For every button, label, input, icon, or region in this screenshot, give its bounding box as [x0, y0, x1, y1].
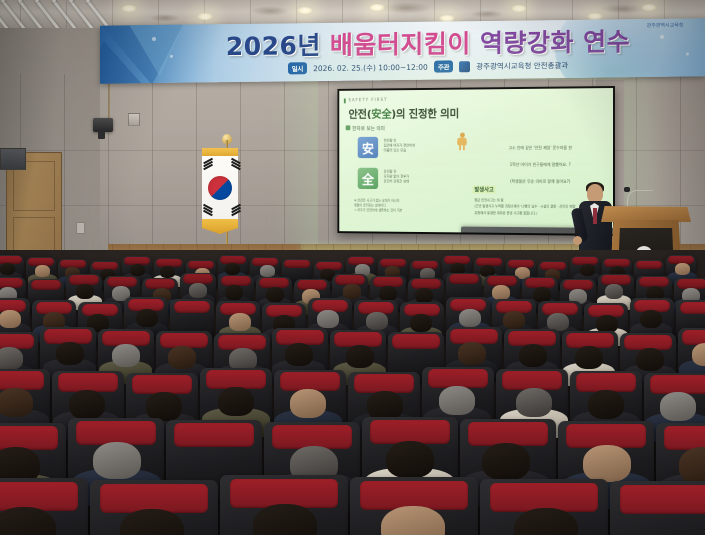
- attendee-head: [692, 343, 705, 366]
- podium-top: [601, 206, 691, 222]
- attendee-head: [516, 388, 552, 417]
- gooseneck-microphone-icon: [627, 190, 653, 208]
- attendee-head: [439, 386, 475, 415]
- attendee-head: [56, 342, 84, 365]
- attendee-head: [580, 264, 595, 276]
- flag-top-band: [202, 148, 238, 156]
- attendee-head: [519, 344, 547, 367]
- ceiling-downlight: [296, 6, 314, 15]
- attendee-head: [366, 312, 388, 330]
- attendee-head: [410, 314, 432, 332]
- hanja-an-description: 편안할 안 집안에 여자가 편안하게 머물러 있는 모습: [384, 139, 442, 154]
- attendee-head: [285, 343, 313, 366]
- attendee-head: [160, 266, 175, 278]
- audience-area: [0, 250, 705, 535]
- attendee-head: [588, 390, 624, 419]
- slide-quote-line1: 고소 안에 같은 '안전 제일' 문수마을 한: [478, 144, 603, 153]
- banner-host-value: 광주광역시교육청 안전총괄과: [476, 59, 568, 71]
- attendee-head: [533, 287, 551, 302]
- hanja-jeon-description: 온전할 전 모자람 없이 전부가 온전히 갖춰진 상태: [384, 170, 442, 185]
- attendee-head: [482, 443, 530, 480]
- attendee-head: [136, 309, 158, 327]
- slide-title-suffix: )의 진정한 의미: [391, 107, 459, 120]
- banner-shape: [100, 41, 150, 84]
- attendee-head: [168, 346, 196, 369]
- attendee-head: [253, 504, 317, 535]
- attendee-head: [386, 441, 434, 478]
- taeguk-symbol-icon: [208, 176, 232, 200]
- attendee-head: [130, 264, 145, 276]
- attendee-head: [640, 310, 662, 328]
- attendee-head: [503, 311, 525, 329]
- slide-footnote: ※ 안전은 사고가 없는 상태가 아니라 위험이 관리되는 상태이다 → 모두가…: [354, 199, 402, 214]
- banner-title-year: 2026년: [226, 26, 321, 63]
- attendee-head: [225, 285, 243, 300]
- hanja-box-an: 安: [358, 137, 378, 158]
- banner-datetime-value: 2026. 02. 25.(수) 10:00~12:00: [313, 61, 428, 73]
- attendee-head: [93, 442, 141, 479]
- door-window: [0, 148, 26, 170]
- attendee-head: [605, 284, 623, 299]
- attendee-head: [0, 347, 23, 370]
- banner-title-program: 배움터지킴이: [330, 24, 471, 62]
- attendee-head: [415, 288, 433, 303]
- attendee-head: [575, 346, 603, 369]
- wall-control-box: [128, 113, 140, 126]
- attendee-head: [69, 390, 105, 419]
- ceiling-downlight: [640, 3, 658, 12]
- slide-heading-incidents: 발생사고: [472, 185, 495, 193]
- attendee-head: [379, 286, 397, 301]
- attendee-head: [146, 392, 182, 421]
- attendee-head: [0, 263, 15, 275]
- attendee-head: [675, 263, 690, 275]
- ceiling-downlight: [120, 4, 138, 13]
- person-pictogram-icon: [457, 133, 467, 151]
- attendee-head: [0, 388, 33, 417]
- banner-datetime-label: 일시: [288, 62, 307, 74]
- attendee-head: [492, 285, 510, 300]
- attendee-head: [660, 392, 696, 421]
- slide-title-prefix: 안전(: [348, 108, 371, 121]
- attendee-head: [189, 283, 207, 298]
- slide-subtitle: 한자로 보는 의미: [352, 125, 385, 132]
- attendee-head: [35, 265, 50, 277]
- banner-corner-logo: 광주광역시교육청: [633, 22, 697, 41]
- attendee-head: [583, 445, 631, 482]
- education-office-emblem-icon: [459, 61, 470, 72]
- attendee-head: [260, 265, 275, 277]
- ceiling-stain: [470, 10, 504, 18]
- attendee-head: [346, 345, 374, 368]
- slide-quote-line2: 1학년 아이가 친구들에게 말했어요. ?: [478, 161, 603, 169]
- wall-panel-seam: [64, 74, 65, 274]
- ceiling-stain: [150, 14, 180, 22]
- attendee-head: [317, 310, 339, 328]
- ceiling-stain: [600, 4, 646, 14]
- auditorium-seat[interactable]: [610, 481, 705, 535]
- attendee-head: [459, 309, 481, 327]
- attendee-head: [112, 344, 140, 367]
- ceiling-stain: [250, 6, 290, 16]
- hanja-box-jeon: 全: [358, 168, 378, 189]
- slide-title: 안전(安全)의 진정한 의미: [348, 105, 459, 121]
- attendee-head: [290, 389, 326, 418]
- attendee-head: [367, 391, 403, 420]
- presenter-hand: [573, 236, 582, 245]
- attendee-head: [229, 313, 251, 331]
- wall-mounted-speaker: [93, 118, 113, 132]
- banner-title-subject: 역량강화 연수: [480, 22, 630, 60]
- ceiling-downlight: [368, 3, 386, 12]
- attendee-head: [0, 310, 21, 328]
- banner-host-label: 주관: [434, 60, 453, 72]
- attendee-head: [458, 342, 486, 365]
- ceiling-downlight: [510, 4, 528, 13]
- attendee-head: [225, 263, 240, 275]
- banner-dot: [152, 37, 156, 41]
- slide-tag: SAFETY FIRST: [348, 97, 387, 102]
- event-banner: 2026년 배움터지킴이 역량강화 연수 일시 2026. 02. 25.(수)…: [100, 18, 705, 83]
- attendee-head: [679, 447, 705, 484]
- attendee-head: [266, 287, 284, 302]
- attendee-head: [636, 348, 664, 371]
- slide-title-highlight: 安全: [371, 108, 391, 121]
- attendee-head: [76, 284, 94, 299]
- ceiling-downlight: [196, 12, 214, 21]
- attendee-head: [343, 284, 361, 299]
- callout-tag: LESSON: [469, 232, 485, 234]
- presenter-tie: [593, 208, 597, 224]
- auditorium-photo: 2026년 배움터지킴이 역량강화 연수 일시 2026. 02. 25.(수)…: [0, 0, 705, 535]
- ceiling-stain: [380, 2, 432, 14]
- wall-outlet: [76, 222, 85, 234]
- attendee-head: [218, 387, 254, 416]
- attendee-head: [381, 506, 445, 535]
